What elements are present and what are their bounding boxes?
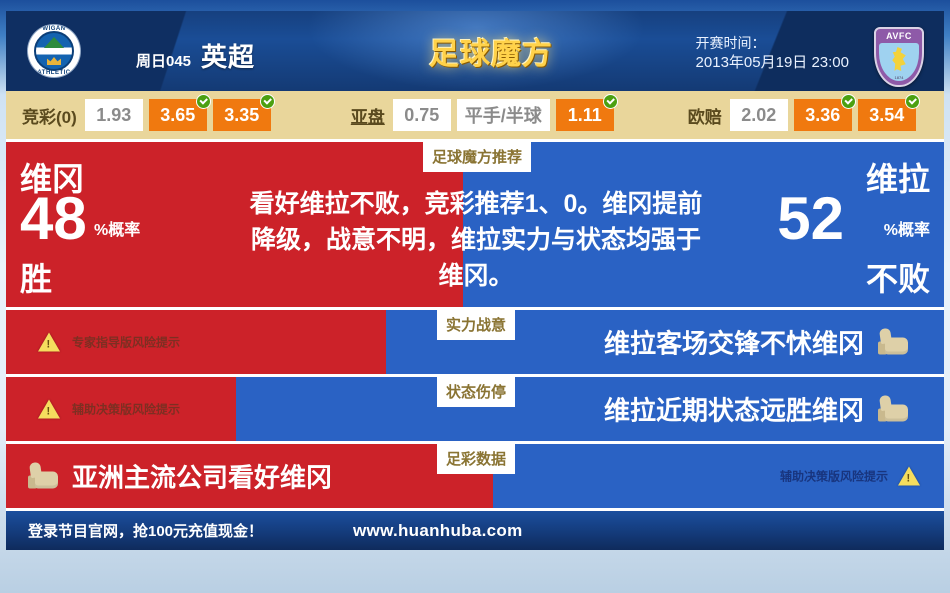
info-row-tab: 足彩数据 [437, 444, 515, 474]
home-outcome-label: 胜 [20, 254, 52, 300]
odds-cell[interactable]: 3.36 [794, 99, 852, 131]
recommendation-text: 看好维拉不败，竞彩推荐1、0。维冈提前降级，战意不明，维拉实力与状态均强于维冈。 [246, 186, 706, 294]
crest-tree-icon [44, 37, 64, 48]
odds-group-label: 亚盘 [351, 103, 385, 128]
broadcast-graphic-page: WIGAN ATHLETIC 周日045 英超 足球魔方 开赛时间： 2013年… [0, 0, 950, 593]
info-row-blue-panel: 维拉近期状态远胜维冈 [236, 377, 944, 441]
odds-group: 竞彩(0)1.933.653.35 [6, 99, 277, 131]
aston-villa-crest-icon: AVFC 1874 [874, 27, 924, 87]
risk-notice: 专家指导版风险提示 [38, 333, 180, 352]
home-probability-unit: %概率 [94, 216, 140, 240]
info-row-headline-text: 维拉近期状态远胜维冈 [604, 391, 864, 428]
odds-group-label: 欧赔 [688, 103, 722, 128]
info-row: 专家指导版风险提示 维拉客场交锋不怵维冈 实力战意 [6, 307, 944, 374]
away-team-name: 维拉 [866, 154, 930, 200]
footer-promo-text: 登录节目官网，抢100元充值现金！ [28, 520, 263, 541]
crest-text-top: WIGAN [28, 26, 80, 32]
info-row: 亚洲主流公司看好维冈 辅助决策版风险提示 足彩数据 [6, 441, 944, 508]
check-icon [260, 94, 275, 109]
info-row-red-panel: 亚洲主流公司看好维冈 [6, 444, 493, 508]
info-row-headline: 维拉客场交锋不怵维冈 [604, 324, 908, 361]
kickoff-value: 2013年05月19日 23:00 [696, 53, 849, 73]
risk-notice: 辅助决策版风险提示 [780, 467, 920, 486]
thumbs-up-icon [878, 328, 908, 356]
odds-cell[interactable]: 2.02 [730, 99, 788, 131]
info-row-headline: 亚洲主流公司看好维冈 [28, 458, 332, 495]
odds-group-label: 竞彩(0) [22, 103, 77, 128]
thumbs-up-icon [878, 395, 908, 423]
odds-cell[interactable]: 1.93 [85, 99, 143, 131]
away-team-crest: AVFC 1874 [874, 27, 926, 79]
footer-site-url[interactable]: www.huanhuba.com [353, 521, 522, 541]
info-row-red-panel: 辅助决策版风险提示 [6, 377, 236, 441]
odds-cell[interactable]: 平手/半球 [457, 99, 550, 131]
check-icon [841, 94, 856, 109]
crest-text-bottom: ATHLETIC [28, 70, 80, 76]
info-row-headline-text: 亚洲主流公司看好维冈 [72, 458, 332, 495]
check-icon [603, 94, 618, 109]
warning-icon [38, 400, 60, 419]
footer-bar: 登录节目官网，抢100元充值现金！ www.huanhuba.com [6, 508, 944, 550]
check-icon [196, 94, 211, 109]
info-row-headline: 维拉近期状态远胜维冈 [604, 391, 908, 428]
match-number: 周日045 [136, 50, 191, 71]
wigan-athletic-crest-icon: WIGAN ATHLETIC [28, 25, 80, 77]
match-title-line: 周日045 英超 [136, 37, 255, 74]
info-row: 辅助决策版风险提示 维拉近期状态远胜维冈 状态伤停 [6, 374, 944, 441]
match-header: WIGAN ATHLETIC 周日045 英超 足球魔方 开赛时间： 2013年… [6, 11, 944, 91]
home-team-crest: WIGAN ATHLETIC [28, 25, 80, 77]
odds-cell[interactable]: 3.54 [858, 99, 916, 131]
content-frame: WIGAN ATHLETIC 周日045 英超 足球魔方 开赛时间： 2013年… [6, 11, 944, 564]
recommendation-tab: 足球魔方推荐 [423, 142, 531, 172]
odds-group: 欧赔2.023.363.54 [672, 99, 922, 131]
info-row-headline-text: 维拉客场交锋不怵维冈 [604, 324, 864, 361]
risk-notice-text: 辅助决策版风险提示 [72, 401, 180, 418]
odds-cell[interactable]: 1.11 [556, 99, 614, 131]
home-probability-value: 48 [20, 190, 87, 248]
away-probability-value: 52 [777, 190, 844, 248]
thumbs-up-icon [28, 462, 58, 490]
risk-notice: 辅助决策版风险提示 [38, 400, 180, 419]
check-icon [905, 94, 920, 109]
odds-cell[interactable]: 3.65 [149, 99, 207, 131]
info-row-blue-panel: 辅助决策版风险提示 [493, 444, 944, 508]
crest-text-top: AVFC [876, 31, 922, 41]
away-outcome-label: 不败 [866, 254, 930, 300]
crest-text-bottom: 1874 [876, 75, 922, 80]
odds-bar: 竞彩(0)1.933.653.35亚盘0.75平手/半球1.11欧赔2.023.… [6, 91, 944, 139]
away-probability-unit: %概率 [884, 216, 930, 240]
warning-icon [38, 333, 60, 352]
risk-notice-text: 辅助决策版风险提示 [780, 468, 888, 485]
info-row-red-panel: 专家指导版风险提示 [6, 310, 386, 374]
brand-logo-text: 足球魔方 [429, 29, 553, 73]
league-name: 英超 [201, 37, 255, 74]
probability-band: 维冈 48 %概率 胜 维拉 52 %概率 不败 足球魔方推荐 看好维拉不败，竞… [6, 139, 944, 307]
warning-icon [898, 467, 920, 486]
odds-cell[interactable]: 0.75 [393, 99, 451, 131]
info-row-tab: 实力战意 [437, 310, 515, 340]
info-row-tab: 状态伤停 [437, 377, 515, 407]
risk-notice-text: 专家指导版风险提示 [72, 334, 180, 351]
odds-group: 亚盘0.75平手/半球1.11 [335, 99, 620, 131]
kickoff-block: 开赛时间： 2013年05月19日 23:00 [696, 33, 849, 73]
odds-cell[interactable]: 3.35 [213, 99, 271, 131]
kickoff-label: 开赛时间： [696, 33, 849, 53]
brand-logo: 足球魔方 [421, 29, 561, 73]
